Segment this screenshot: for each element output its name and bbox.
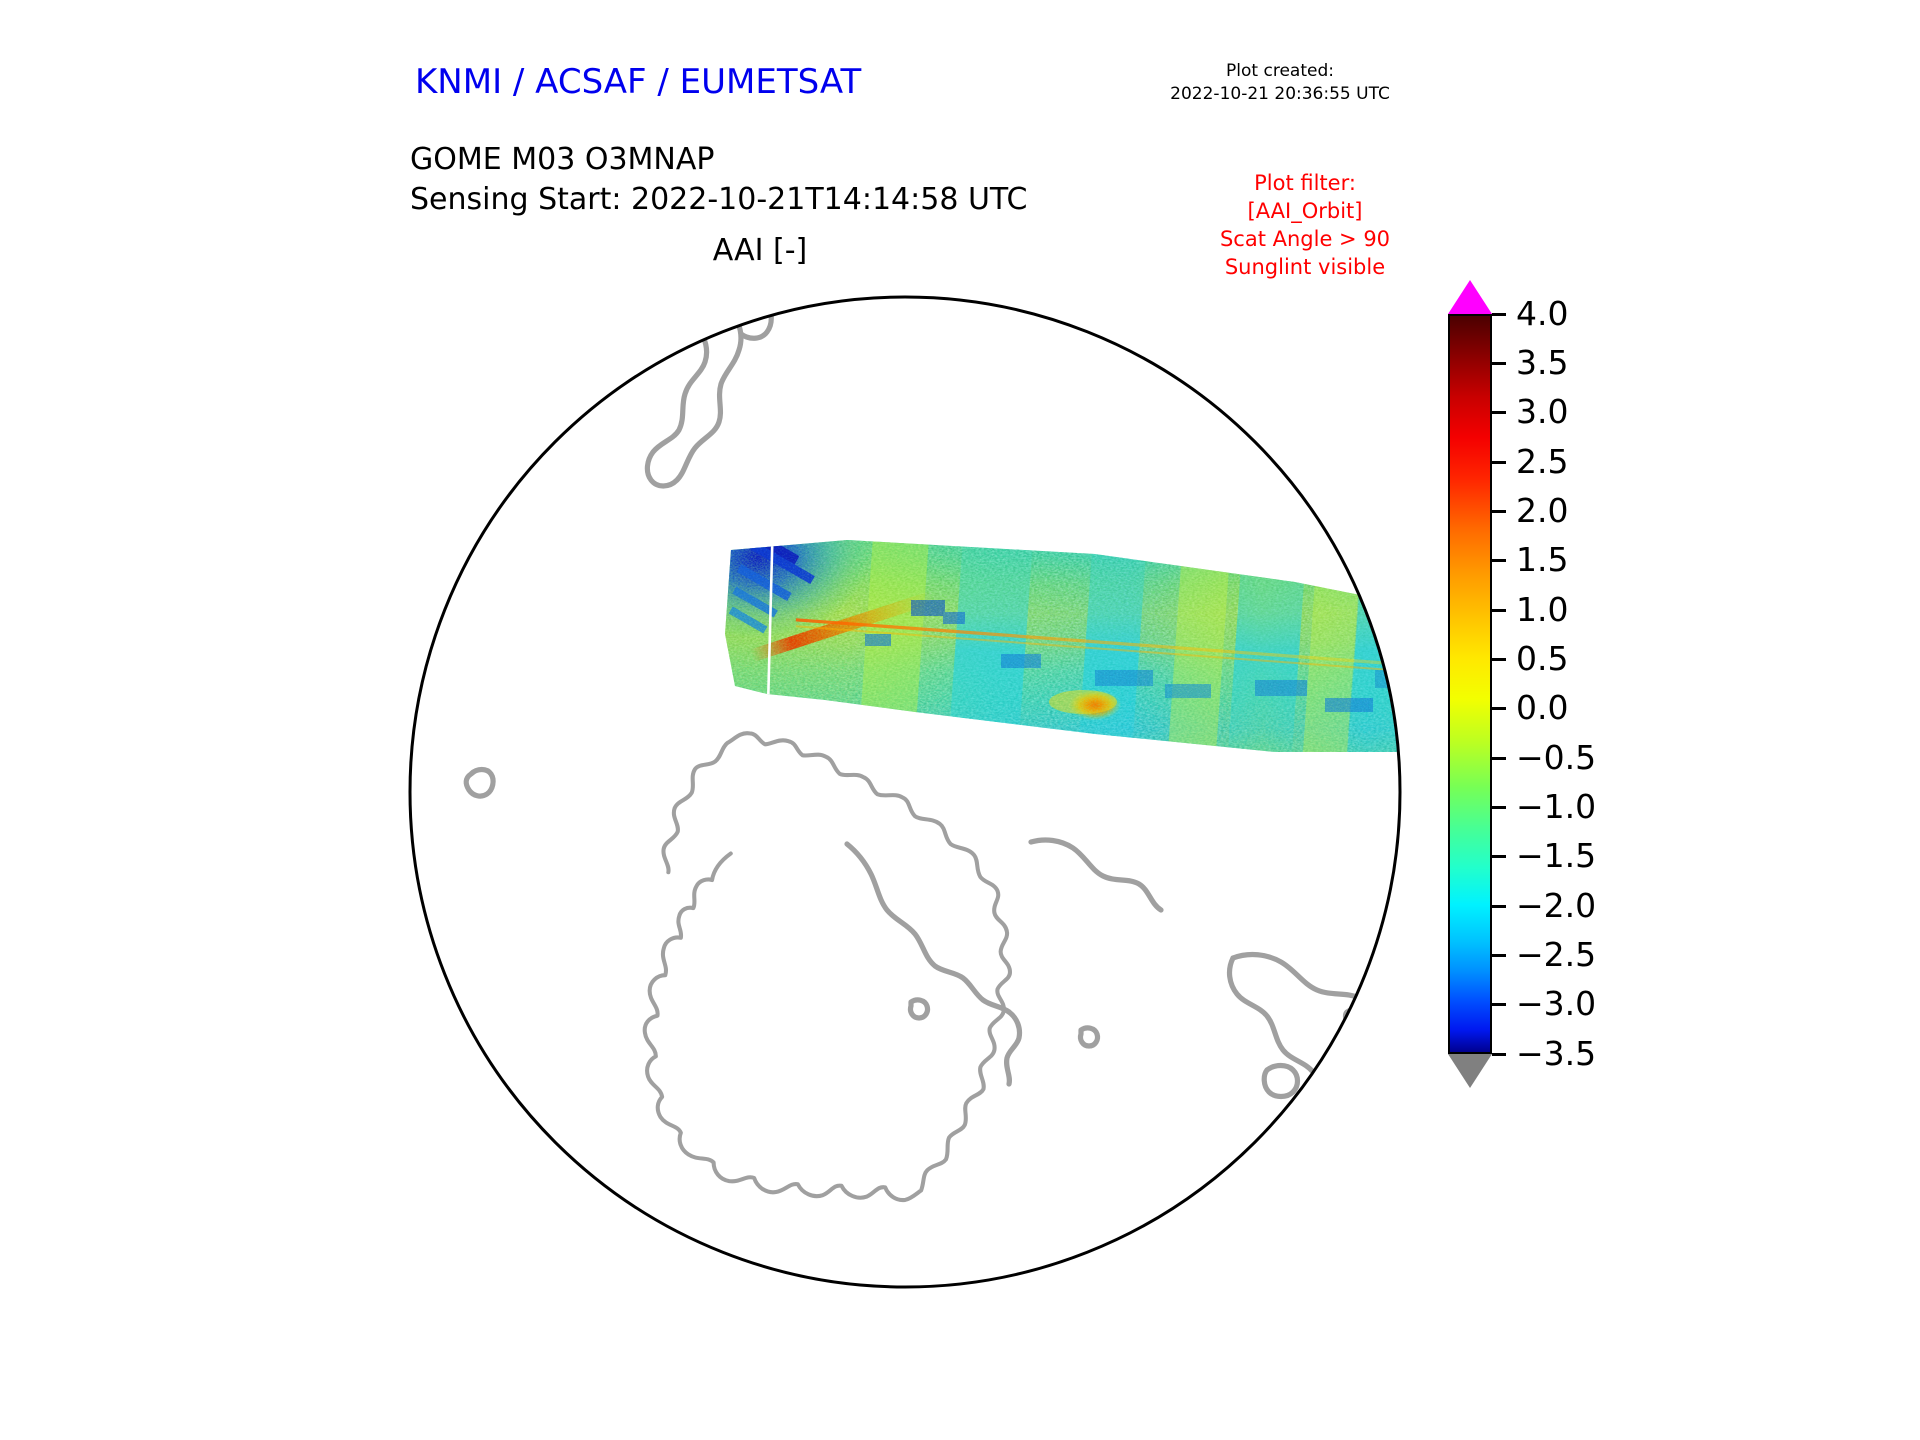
colorbar-tick-mark: [1492, 609, 1506, 612]
colorbar-over-arrow: [1448, 280, 1492, 314]
colorbar-tick-mark: [1492, 707, 1506, 710]
plot-created-block: Plot created: 2022-10-21 20:36:55 UTC: [1100, 60, 1460, 107]
plot-filter-variable: [AAI_Orbit]: [1150, 198, 1460, 226]
page-title: GOME M03 O3MNAP Sensing Start: 2022-10-2…: [410, 140, 1027, 220]
plot-created-timestamp: 2022-10-21 20:36:55 UTC: [1100, 83, 1460, 106]
colorbar-tick-mark: [1492, 313, 1506, 316]
colorbar-tick-label: 4.0: [1516, 297, 1568, 330]
colorbar-tick-mark: [1492, 855, 1506, 858]
header-institutes: KNMI / ACSAF / EUMETSAT: [415, 62, 861, 102]
colorbar-under-arrow: [1448, 1054, 1492, 1088]
colorbar-tick-mark: [1492, 757, 1506, 760]
globe-disc: [410, 297, 1400, 1287]
colorbar-tick-mark: [1492, 658, 1506, 661]
plot-filter-scat-angle: Scat Angle > 90: [1150, 226, 1460, 254]
colorbar-gradient: [1448, 314, 1492, 1054]
colorbar-tick-mark: [1492, 510, 1506, 513]
colorbar-tick-mark: [1492, 559, 1506, 562]
globe-map: [395, 282, 1415, 1302]
map-panel: [395, 282, 1415, 1302]
colorbar-tick-mark: [1492, 1003, 1506, 1006]
colorbar-tick-label: 3.0: [1516, 395, 1568, 428]
colorbar-tick-mark: [1492, 411, 1506, 414]
plot-created-label: Plot created:: [1100, 60, 1460, 83]
colorbar-tick-mark: [1492, 362, 1506, 365]
plot-filter-heading: Plot filter:: [1150, 170, 1460, 198]
title-quantity: AAI [-]: [410, 233, 1110, 268]
colorbar-tick-label: 0.5: [1516, 642, 1568, 675]
colorbar-tick-label: −1.5: [1516, 839, 1596, 872]
colorbar-tick-label: 1.0: [1516, 593, 1568, 626]
coastline-australia-fragment: [365, 396, 425, 430]
colorbar-tick-mark: [1492, 461, 1506, 464]
colorbar-tick-mark: [1492, 806, 1506, 809]
colorbar-tick-mark: [1492, 1053, 1506, 1056]
coastline-tasmania: [419, 440, 465, 489]
plot-filter-block: Plot filter: [AAI_Orbit] Scat Angle > 90…: [1150, 170, 1460, 282]
title-sensing-start: Sensing Start: 2022-10-21T14:14:58 UTC: [410, 180, 1027, 220]
colorbar-tick-label: −2.5: [1516, 938, 1596, 971]
colorbar-tick-label: 2.5: [1516, 445, 1568, 478]
plot-filter-sunglint: Sunglint visible: [1150, 254, 1460, 282]
colorbar-tick-label: 2.0: [1516, 494, 1568, 527]
colorbar: 4.03.53.02.52.01.51.00.50.0−0.5−1.0−1.5−…: [1448, 280, 1708, 1100]
colorbar-tick-label: −2.0: [1516, 889, 1596, 922]
colorbar-tick-label: −3.0: [1516, 987, 1596, 1020]
title-instrument: GOME M03 O3MNAP: [410, 140, 1027, 180]
colorbar-tick-label: −1.0: [1516, 790, 1596, 823]
colorbar-tick-label: 3.5: [1516, 346, 1568, 379]
colorbar-tick-label: −0.5: [1516, 741, 1596, 774]
colorbar-tick-mark: [1492, 905, 1506, 908]
colorbar-tick-mark: [1492, 954, 1506, 957]
colorbar-tick-label: −3.5: [1516, 1037, 1596, 1070]
colorbar-tick-label: 1.5: [1516, 543, 1568, 576]
colorbar-tick-label: 0.0: [1516, 691, 1568, 724]
cyan-band: [1347, 530, 1422, 773]
